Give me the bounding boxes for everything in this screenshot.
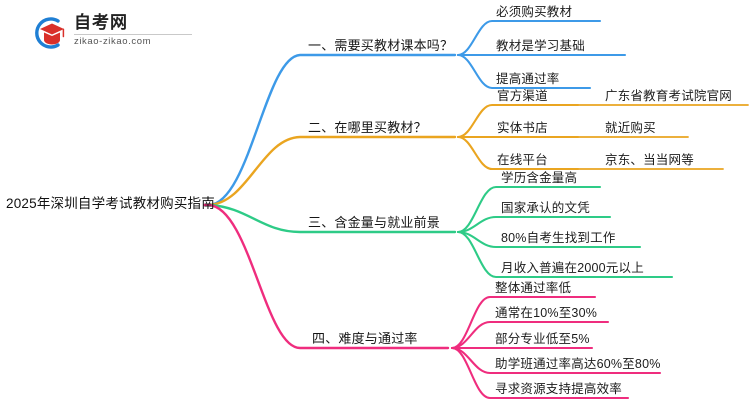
root-node-label[interactable]: 2025年深圳自学考试教材购买指南 [6, 196, 215, 211]
branch-2-child-1-grandchild-label[interactable]: 广东省教育考试院官网 [605, 89, 732, 104]
branch-4-child-3-label[interactable]: 部分专业低至5% [495, 332, 590, 347]
branch-4-child-1-label[interactable]: 整体通过率低 [495, 281, 571, 296]
branch-1-label[interactable]: 一、需要买教材课本吗？ [308, 38, 453, 53]
branch-4-child-2-label[interactable]: 通常在10%至30% [495, 306, 597, 321]
branch-4-label[interactable]: 四、难度与通过率 [312, 331, 418, 346]
connector-b3-child-2 [458, 217, 610, 232]
branch-2-child-3-label[interactable]: 在线平台 [497, 153, 548, 168]
branch-4-child-5-label[interactable]: 寻求资源支持提高效率 [495, 382, 622, 397]
branch-2-child-2-grandchild-label[interactable]: 就近购买 [605, 121, 656, 136]
branch-3-child-4-label[interactable]: 月收入普遍在2000元以上 [501, 261, 644, 276]
branch-2-child-3-grandchild-label[interactable]: 京东、当当网等 [605, 153, 694, 168]
branch-2-child-1-label[interactable]: 官方渠道 [497, 89, 548, 104]
branch-1-child-1-label[interactable]: 必须购买教材 [496, 5, 572, 20]
branch-3-child-3-label[interactable]: 80%自考生找到工作 [501, 231, 616, 246]
branch-4-child-4-label[interactable]: 助学班通过率高达60%至80% [495, 357, 661, 372]
branch-1-child-3-label[interactable]: 提高通过率 [496, 72, 560, 87]
branch-3-child-2-label[interactable]: 国家承认的文凭 [501, 201, 590, 216]
branch-2-child-2-label[interactable]: 实体书店 [497, 121, 548, 136]
branch-3-label[interactable]: 三、含金量与就业前景 [308, 215, 440, 230]
branch-2-label[interactable]: 二、在哪里买教材？ [308, 120, 427, 135]
branch-1-child-2-label[interactable]: 教材是学习基础 [496, 39, 585, 54]
branch-3-child-1-label[interactable]: 学历含金量高 [501, 171, 577, 186]
connector-root-to-branch-2 [209, 137, 455, 205]
